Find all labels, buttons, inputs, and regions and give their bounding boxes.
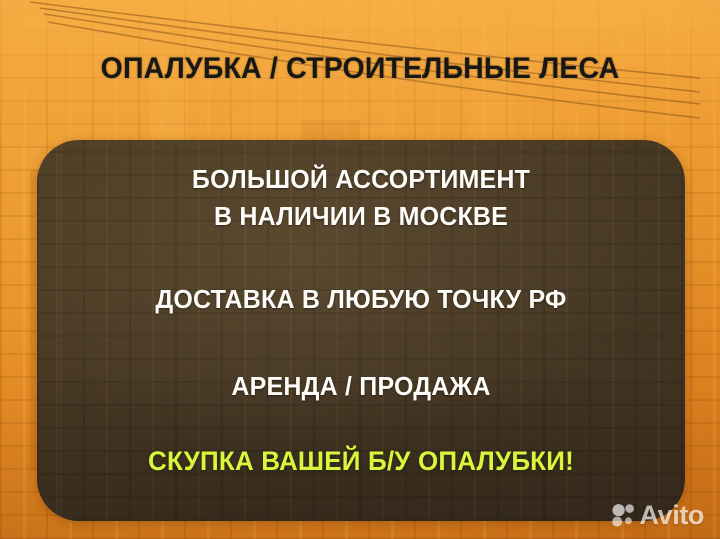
avito-dots-logo-icon [611,503,636,528]
avito-ad-image: ОПАЛУБКА / СТРОИТЕЛЬНЫЕ ЛЕСА БОЛЬШОЙ АСС… [0,0,720,539]
offer-panel: БОЛЬШОЙ АССОРТИМЕНТ В НАЛИЧИИ В МОСКВЕ Д… [37,140,685,521]
page-title: ОПАЛУБКА / СТРОИТЕЛЬНЫЕ ЛЕСА [13,52,708,86]
avito-wordmark: Avito [640,502,705,529]
offer-line-in-stock-moscow: В НАЛИЧИИ В МОСКВЕ [43,203,678,232]
offer-line-assortment: БОЛЬШОЙ АССОРТИМЕНТ [43,166,678,195]
offer-line-rent-or-sale: АРЕНДА / ПРОДАЖА [43,373,678,402]
offer-line-buyback-highlight: СКУПКА ВАШЕЙ Б/У ОПАЛУБКИ! [43,446,678,477]
offer-list: БОЛЬШОЙ АССОРТИМЕНТ В НАЛИЧИИ В МОСКВЕ Д… [37,140,685,521]
avito-watermark: Avito [611,502,705,529]
offer-line-delivery: ДОСТАВКА В ЛЮБУЮ ТОЧКУ РФ [43,286,678,315]
